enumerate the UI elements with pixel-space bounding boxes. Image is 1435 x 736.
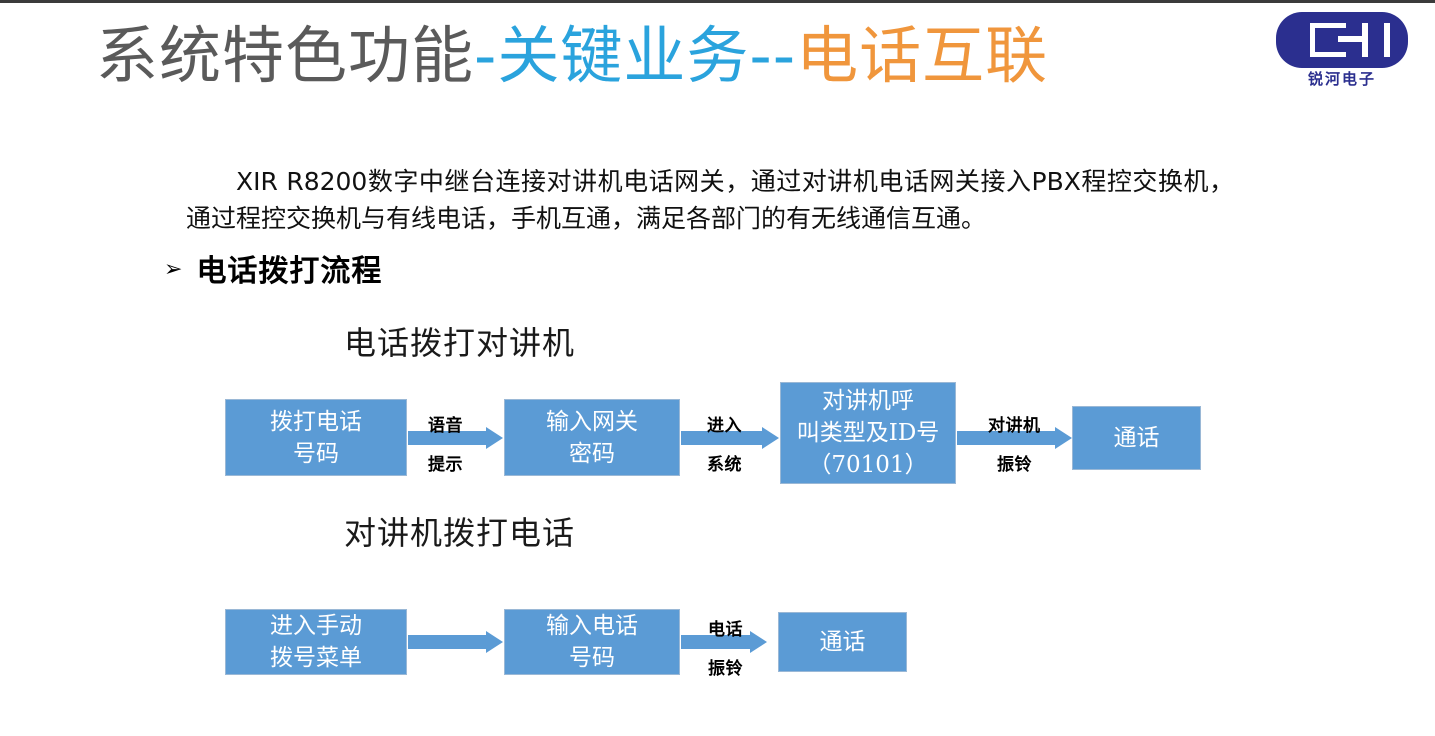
flow1-arrow-1-label-bottom: 提示 (428, 450, 463, 475)
title-segment-gray: 系统特色功能 (96, 19, 474, 92)
flow1-box-2: 输入网关 密码 (504, 399, 680, 476)
flow1-arrow-3-label-bottom: 振铃 (997, 450, 1032, 475)
flow1-box-1-line-1: 拨打电话 (270, 406, 362, 438)
flow1-arrow-3-label-top: 对讲机 (988, 411, 1041, 436)
flow2-box-1-line-2: 拨号菜单 (270, 642, 362, 674)
flow1-box-4: 通话 (1072, 406, 1201, 470)
flow2-arrow-2-label-bottom: 振铃 (708, 654, 743, 679)
flow2-box-1: 进入手动 拨号菜单 (225, 609, 407, 675)
flow1-box-1: 拨打电话 号码 (225, 399, 407, 476)
flow1-heading: 电话拨打对讲机 (344, 318, 575, 364)
flow2-heading: 对讲机拨打电话 (344, 508, 575, 554)
flow2-box-3-line-1: 通话 (820, 626, 866, 658)
bullet-arrow-icon: ➢ (164, 259, 182, 281)
flow1-arrow-2-label-top: 进入 (707, 411, 742, 436)
flow1-box-3: 对讲机呼 叫类型及ID号 （70101） (780, 382, 956, 484)
logo-company-name: 锐河电子 (1267, 68, 1417, 89)
logo-letter-i-icon (1384, 23, 1390, 57)
body-paragraph: XIR R8200数字中继台连接对讲机电话网关，通过对讲机电话网关接入PBX程控… (186, 163, 1234, 237)
flow1-arrow-2-label-bottom: 系统 (707, 450, 742, 475)
bullet-heading-label: 电话拨打流程 (196, 246, 382, 290)
flow1-arrow-1-head-icon (486, 427, 503, 449)
flow1-box-2-line-1: 输入网关 (546, 406, 638, 438)
flow2-arrow-1-head-icon (486, 631, 503, 653)
flow1-box-3-line-2: 叫类型及ID号 (797, 417, 940, 449)
page-title: 系统特色功能-关键业务--电话互联 (96, 16, 1048, 96)
flow2-arrow-1-shaft (408, 635, 486, 649)
title-segment-orange: 电话互联 (796, 19, 1048, 92)
flow2-arrow-1 (408, 631, 503, 653)
flow1-box-1-line-2: 号码 (270, 438, 362, 470)
flow1-box-3-line-3: （70101） (797, 449, 940, 481)
bullet-heading: ➢ 电话拨打流程 (164, 246, 382, 290)
logo-mark-icon (1276, 12, 1408, 68)
flow2-box-2: 输入电话 号码 (504, 609, 680, 675)
flow1-box-4-line-1: 通话 (1114, 422, 1160, 454)
flow2-arrow-2-label-top: 电话 (708, 615, 743, 640)
flow1-arrow-2-head-icon (762, 427, 779, 449)
company-logo: 锐河电子 (1267, 8, 1417, 100)
flow1-arrow-3-head-icon (1055, 427, 1072, 449)
slide-canvas: 系统特色功能-关键业务--电话互联 锐河电子 XIR R8200数字中继台连接对… (0, 0, 1435, 736)
flow1-arrow-1-label-top: 语音 (428, 411, 463, 436)
flow2-box-1-line-1: 进入手动 (270, 610, 362, 642)
flow2-arrow-2-head-icon (750, 631, 767, 653)
flow2-box-2-line-1: 输入电话 (546, 610, 638, 642)
flow1-box-3-line-1: 对讲机呼 (797, 385, 940, 417)
title-segment-blue: -关键业务-- (474, 19, 796, 92)
flow2-box-2-line-2: 号码 (546, 642, 638, 674)
logo-letter-h-stem-icon (1362, 23, 1368, 57)
top-divider (0, 0, 1435, 3)
flow1-box-2-line-2: 密码 (546, 438, 638, 470)
flow2-box-3: 通话 (778, 612, 907, 672)
